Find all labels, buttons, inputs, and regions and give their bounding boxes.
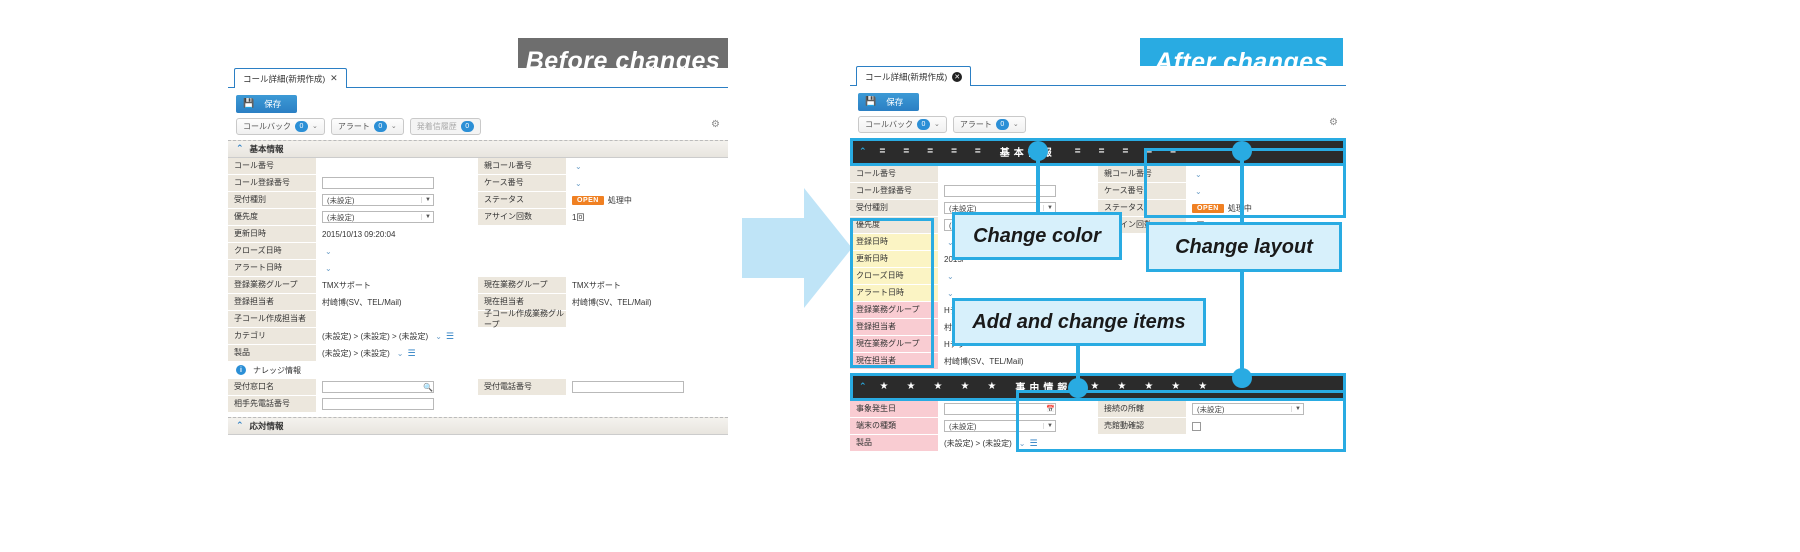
form-field xyxy=(1098,435,1346,452)
form-field: コール番号 xyxy=(850,166,1098,183)
picker-value: (未設定) > (未設定) xyxy=(322,348,390,359)
tabstrip-after: コール詳細(新規作成) ✕ xyxy=(850,66,1346,86)
form-field: 受付電話番号 xyxy=(478,379,728,396)
header-decoration: = xyxy=(1161,146,1185,157)
form-field: ケース番号⌄ xyxy=(1098,183,1346,200)
section-header-response-before[interactable]: ⌃ 応対情報 xyxy=(228,417,728,435)
chipbar-after: コールバック 0 ⌄ アラート 0 ⌄ ⚙ xyxy=(850,114,1346,138)
field-label: 登録担当者 xyxy=(850,319,938,336)
picker-value: (未設定) > (未設定) xyxy=(944,438,1012,449)
form-field xyxy=(478,328,728,345)
field-value: 村崎博(SV、TEL/Mail) xyxy=(566,294,728,311)
form-row: 登録担当者村崎博(SV、TEL/Mail)現在担当者村崎博(SV、TEL/Mai… xyxy=(228,294,728,311)
field-label: 登録業務グループ xyxy=(228,277,316,294)
header-decoration: ★ xyxy=(1135,381,1162,392)
section-header-reason-after[interactable]: ⌃ ★★★★★事由情報★★★★★ xyxy=(853,376,1343,398)
field-value: TMXサポート xyxy=(566,277,728,294)
value-text: TMXサポート xyxy=(572,280,621,291)
field-value: ⌄ xyxy=(938,268,1098,285)
form-row: コール番号親コール番号⌄ xyxy=(228,158,728,175)
field-label: 親コール番号 xyxy=(1098,166,1186,183)
leader-dot-change-layout-bottom xyxy=(1232,368,1252,388)
chevron-down-icon[interactable]: ▼ xyxy=(1291,406,1301,412)
field-label: ケース番号 xyxy=(478,175,566,192)
form-row: 端末の種類(未設定)▼売館動確認 xyxy=(850,418,1346,435)
form-field: コール登録番号 xyxy=(850,183,1098,200)
form-row: 製品(未設定) > (未設定)⌄☰ xyxy=(850,435,1346,452)
search-icon[interactable]: 🔍 xyxy=(423,383,433,392)
field-label: 登録日時 xyxy=(850,234,938,251)
field-value: ⌄ xyxy=(316,260,478,277)
save-label: 保存 xyxy=(886,96,903,108)
form-field: 登録業務グループTMXサポート xyxy=(228,277,478,294)
form-field: クローズ日時⌄ xyxy=(228,243,478,260)
header-decoration: ★ xyxy=(871,381,898,392)
header-decoration: = xyxy=(1113,146,1137,157)
chevron-up-icon[interactable]: ⌃ xyxy=(236,143,244,154)
chevron-down-icon[interactable]: ⌄ xyxy=(572,162,582,171)
chip-alert[interactable]: アラート 0 ⌄ xyxy=(331,118,404,135)
field-value: ⌄ xyxy=(566,175,728,192)
field-value: 1回 xyxy=(566,209,728,226)
form-row: 受付種別(未設定)▼ステータスOPEN処理中 xyxy=(228,192,728,209)
field-label: 端末の種類 xyxy=(850,418,938,435)
chip-label: 発着信履歴 xyxy=(417,121,457,132)
text-input[interactable] xyxy=(322,177,434,189)
section-title: 基本情報 xyxy=(250,143,284,155)
section-header-basic-after[interactable]: ⌃ =====基本情報===== xyxy=(853,141,1343,163)
form-field xyxy=(478,260,728,277)
save-button[interactable]: 💾 保存 xyxy=(236,95,297,113)
field-value: 🔍 xyxy=(316,379,478,396)
field-label: 事象発生日 xyxy=(850,401,938,418)
header-decoration: = xyxy=(1090,146,1114,157)
chip-label: アラート xyxy=(960,119,992,130)
form-field: 端末の種類(未設定)▼ xyxy=(850,418,1098,435)
field-label: 子コール作成担当者 xyxy=(228,311,316,328)
form-row: コール登録番号ケース番号⌄ xyxy=(850,183,1346,200)
form-field: 登録担当者村崎博(SV、TEL/Mail) xyxy=(228,294,478,311)
header-decoration: = xyxy=(966,146,990,157)
field-label: 子コール作成業務グループ xyxy=(478,311,566,328)
chevron-down-icon[interactable]: ⌄ xyxy=(1016,439,1026,448)
field-value: (未設定) > (未設定) > (未設定)⌄☰ xyxy=(316,328,478,345)
text-input[interactable]: 🔍 xyxy=(322,381,434,393)
form-row: 事象発生日📅接続の所轄(未設定)▼ xyxy=(850,401,1346,418)
field-value: ⌄ xyxy=(316,243,478,260)
form-field xyxy=(478,243,728,260)
field-value: (未設定)▼ xyxy=(316,192,478,209)
field-label: 受付窓口名 xyxy=(228,379,316,396)
field-label: 受付種別 xyxy=(228,192,316,209)
form-field xyxy=(478,396,728,413)
dropdown-select[interactable]: (未設定)▼ xyxy=(322,211,434,223)
chevron-down-icon[interactable]: ⌄ xyxy=(944,289,954,298)
field-value xyxy=(316,158,478,175)
header-decoration: ★ xyxy=(1108,381,1135,392)
chip-callback[interactable]: コールバック 0 ⌄ xyxy=(236,118,325,135)
form-field: 事象発生日📅 xyxy=(850,401,1098,418)
field-label: 現在業務グループ xyxy=(850,336,938,353)
field-label: 相手先電話番号 xyxy=(228,396,316,413)
leader-dot-add-items xyxy=(1068,378,1088,398)
callout-label: Add and change items xyxy=(972,311,1185,334)
field-value: 2015/10/13 09:20:04 xyxy=(316,226,478,243)
chevron-down-icon[interactable]: ▼ xyxy=(421,197,431,203)
tab-call-detail-before[interactable]: コール詳細(新規作成) ✕ xyxy=(234,68,347,88)
form-row: 受付窓口名🔍受付電話番号 xyxy=(228,379,728,396)
field-value xyxy=(316,396,478,413)
calendar-icon[interactable]: 📅 xyxy=(1046,405,1055,413)
dropdown-select[interactable]: (未設定)▼ xyxy=(1192,403,1304,415)
field-label: 登録業務グループ xyxy=(850,302,938,319)
field-value xyxy=(566,379,728,396)
save-button[interactable]: 💾 保存 xyxy=(858,93,919,111)
leader-dot-change-layout-top xyxy=(1232,141,1252,161)
text-input[interactable] xyxy=(572,381,684,393)
field-label: アラート日時 xyxy=(850,285,938,302)
before-panel: コール詳細(新規作成) ✕ 💾 保存 コールバック 0 ⌄ アラート 0 ⌄ 発… xyxy=(228,68,728,450)
field-value xyxy=(1186,418,1346,435)
form-field: 現在担当者村崎博(SV、TEL/Mail) xyxy=(850,353,1098,370)
chevron-down-icon[interactable]: ⌄ xyxy=(1192,187,1202,196)
header-decoration: ★ xyxy=(898,381,925,392)
chevron-down-icon[interactable]: ⌄ xyxy=(944,272,954,281)
form-field: コール登録番号 xyxy=(228,175,478,192)
save-disk-icon: 💾 xyxy=(865,96,876,107)
form-field xyxy=(478,226,728,243)
value-text: 村崎博(SV、TEL/Mail) xyxy=(322,297,402,308)
gear-icon[interactable]: ⚙ xyxy=(711,119,720,130)
leader-dot-change-color xyxy=(1028,141,1048,161)
form-field: 接続の所轄(未設定)▼ xyxy=(1098,401,1346,418)
form-row: カテゴリ(未設定) > (未設定) > (未設定)⌄☰ xyxy=(228,328,728,345)
tab-call-detail-after[interactable]: コール詳細(新規作成) ✕ xyxy=(856,66,971,86)
chevron-down-icon[interactable]: ⌄ xyxy=(432,332,442,341)
header-decoration: = xyxy=(918,146,942,157)
form-field: アラート日時⌄ xyxy=(228,260,478,277)
header-decoration: ★ xyxy=(951,381,978,392)
form-field: 製品(未設定) > (未設定)⌄☰ xyxy=(228,345,478,362)
chip-call-history: 発着信履歴 0 xyxy=(410,118,481,135)
form-field: 受付種別(未設定)▼ xyxy=(228,192,478,209)
form-field: カテゴリ(未設定) > (未設定) > (未設定)⌄☰ xyxy=(228,328,478,345)
knowledge-label: ナレッジ情報 xyxy=(253,365,301,376)
callout-label: Change layout xyxy=(1175,236,1313,259)
field-label: 更新日時 xyxy=(850,251,938,268)
tab-label: コール詳細(新規作成) xyxy=(865,71,947,83)
chevron-down-icon[interactable]: ▼ xyxy=(1043,423,1053,429)
comparison-figure: Before changes After changes コール詳細(新規作成)… xyxy=(0,0,1800,552)
chipbar-before: コールバック 0 ⌄ アラート 0 ⌄ 発着信履歴 0 ⚙ xyxy=(228,116,728,140)
callout-change-layout: Change layout xyxy=(1146,222,1342,272)
form-row: 子コール作成担当者子コール作成業務グループ xyxy=(228,311,728,328)
dropdown-select[interactable]: (未設定)▼ xyxy=(944,420,1056,432)
dropdown-select[interactable]: (未設定)▼ xyxy=(322,194,434,206)
field-value: ⌄ xyxy=(1186,166,1346,183)
chevron-down-icon[interactable]: ⌄ xyxy=(572,179,582,188)
field-label: 受付種別 xyxy=(850,200,938,217)
field-label: アサイン回数 xyxy=(478,209,566,226)
section-header-reason-highlight: ⌃ ★★★★★事由情報★★★★★ xyxy=(850,373,1346,401)
field-value: TMXサポート xyxy=(316,277,478,294)
field-label: 優先度 xyxy=(228,209,316,226)
select-value: (未設定) xyxy=(327,195,355,206)
field-value: (未設定) > (未設定)⌄☰ xyxy=(316,345,478,362)
list-picker-icon[interactable]: ☰ xyxy=(407,348,414,359)
save-disk-icon: 💾 xyxy=(243,98,254,109)
field-value: 村崎博(SV、TEL/Mail) xyxy=(316,294,478,311)
status-badge: OPEN xyxy=(572,196,604,205)
form-field xyxy=(1098,353,1346,370)
form-row: 更新日時2015/10/13 09:20:04 xyxy=(228,226,728,243)
chip-count-badge: 0 xyxy=(295,121,308,132)
chip-count-badge: 0 xyxy=(461,121,474,132)
field-value xyxy=(938,166,1098,183)
form-field: アサイン回数1回 xyxy=(478,209,728,226)
chevron-down-icon[interactable]: ⌄ xyxy=(322,247,332,256)
form-field: 子コール作成担当者 xyxy=(228,311,478,328)
value-text: TMXサポート xyxy=(322,280,371,291)
field-value: (未設定)▼ xyxy=(1186,401,1346,418)
field-label: 製品 xyxy=(228,345,316,362)
header-decoration: ★ xyxy=(1162,381,1189,392)
chevron-down-icon[interactable]: ⌄ xyxy=(391,122,397,130)
list-picker-icon[interactable]: ☰ xyxy=(446,331,453,342)
value-text: 1回 xyxy=(572,212,584,223)
chip-label: アラート xyxy=(338,121,370,132)
form-row: 優先度(未設定)▼アサイン回数1回 xyxy=(228,209,728,226)
field-label: クローズ日時 xyxy=(850,268,938,285)
form-row: 登録業務グループTMXサポート現在業務グループTMXサポート xyxy=(228,277,728,294)
form-row: 現在担当者村崎博(SV、TEL/Mail) xyxy=(850,353,1346,370)
close-icon[interactable]: ✕ xyxy=(952,72,962,82)
chevron-up-icon[interactable]: ⌃ xyxy=(859,381,867,392)
chip-count-badge: 0 xyxy=(917,119,930,130)
field-value xyxy=(566,311,728,328)
header-decoration: = xyxy=(871,146,895,157)
form-field: 売館動確認 xyxy=(1098,418,1346,435)
field-label: 受付電話番号 xyxy=(478,379,566,396)
chip-label: コールバック xyxy=(865,119,913,130)
field-value: OPEN処理中 xyxy=(1186,200,1346,217)
field-value: OPEN処理中 xyxy=(566,192,728,209)
field-value: (未設定) > (未設定)⌄☰ xyxy=(938,435,1098,452)
form-row: アラート日時⌄ xyxy=(228,260,728,277)
chevron-down-icon[interactable]: ⌄ xyxy=(394,349,404,358)
tab-label: コール詳細(新規作成) xyxy=(243,73,325,85)
field-label: 更新日時 xyxy=(228,226,316,243)
field-label: 親コール番号 xyxy=(478,158,566,175)
form-field: 受付窓口名🔍 xyxy=(228,379,478,396)
text-input[interactable]: 📅 xyxy=(944,403,1056,415)
toolbar-after: 💾 保存 xyxy=(850,86,1346,114)
list-picker-icon[interactable]: ☰ xyxy=(1029,438,1036,449)
form-field: 更新日時2015/10/13 09:20:04 xyxy=(228,226,478,243)
value-text: 2015/10/13 09:20:04 xyxy=(322,230,395,239)
callout-label: Change color xyxy=(973,225,1101,248)
select-value: (未設定) xyxy=(1197,404,1225,415)
field-label: 現在業務グループ xyxy=(478,277,566,294)
form-field: ケース番号⌄ xyxy=(478,175,728,192)
chip-count-badge: 0 xyxy=(374,121,387,132)
field-value: (未設定)▼ xyxy=(938,418,1098,435)
form-field: クローズ日時⌄ xyxy=(850,268,1098,285)
field-value: 📅 xyxy=(938,401,1098,418)
section-title: 応対情報 xyxy=(250,420,284,432)
value-text: 村崎博(SV、TEL/Mail) xyxy=(944,356,1024,367)
form-field: ステータスOPEN処理中 xyxy=(478,192,728,209)
chevron-down-icon[interactable]: ⌄ xyxy=(1192,170,1202,179)
field-value: ⌄ xyxy=(1186,183,1346,200)
field-label: 登録担当者 xyxy=(228,294,316,311)
field-value: (未設定)▼ xyxy=(316,209,478,226)
header-decoration: = xyxy=(942,146,966,157)
chevron-down-icon[interactable]: ⌄ xyxy=(934,120,940,128)
close-icon[interactable]: ✕ xyxy=(330,73,338,84)
field-label: 製品 xyxy=(850,435,938,452)
chip-alert[interactable]: アラート 0 ⌄ xyxy=(953,116,1026,133)
form-row: コール番号親コール番号⌄ xyxy=(850,166,1346,183)
form-field: 優先度(未設定)▼ xyxy=(228,209,478,226)
knowledge-info-row[interactable]: i ナレッジ情報 xyxy=(228,362,728,379)
select-value: (未設定) xyxy=(327,212,355,223)
field-value: 村崎博(SV、TEL/Mail) xyxy=(938,353,1098,370)
field-label: 優先度 xyxy=(850,217,938,234)
field-label: ケース番号 xyxy=(1098,183,1186,200)
section-header-basic-highlight: ⌃ =====基本情報===== xyxy=(850,138,1346,166)
save-label: 保存 xyxy=(264,98,281,110)
form-field: コール番号 xyxy=(228,158,478,175)
form-field: 製品(未設定) > (未設定)⌄☰ xyxy=(850,435,1098,452)
form-field: ステータスOPEN処理中 xyxy=(1098,200,1346,217)
status-text: 処理中 xyxy=(608,195,632,206)
value-text: 村崎博(SV、TEL/Mail) xyxy=(572,297,652,308)
form-field: 親コール番号⌄ xyxy=(1098,166,1346,183)
chevron-down-icon[interactable]: ⌄ xyxy=(1013,120,1019,128)
text-input[interactable] xyxy=(322,398,434,410)
chevron-down-icon[interactable]: ▼ xyxy=(1043,205,1053,211)
form-field: 現在業務グループTMXサポート xyxy=(478,277,728,294)
header-decoration: ★ xyxy=(978,381,1005,392)
field-label: クローズ日時 xyxy=(228,243,316,260)
header-decoration: = xyxy=(894,146,918,157)
chevron-up-icon[interactable]: ⌃ xyxy=(236,420,244,431)
chevron-down-icon[interactable]: ▼ xyxy=(421,214,431,220)
form-row: 製品(未設定) > (未設定)⌄☰ xyxy=(228,345,728,362)
field-label: 売館動確認 xyxy=(1098,418,1186,435)
tabstrip-before: コール詳細(新規作成) ✕ xyxy=(228,68,728,88)
form-field xyxy=(478,345,728,362)
before-form-grid: コール番号親コール番号⌄コール登録番号ケース番号⌄受付種別(未設定)▼ステータス… xyxy=(228,158,728,362)
select-value: (未設定) xyxy=(949,421,977,432)
field-label: コール登録番号 xyxy=(850,183,938,200)
field-value: ⌄ xyxy=(566,158,728,175)
field-label: 現在担当者 xyxy=(850,353,938,370)
field-label: アラート日時 xyxy=(228,260,316,277)
header-decoration: ★ xyxy=(1189,381,1216,392)
field-label: コール登録番号 xyxy=(228,175,316,192)
form-field: 相手先電話番号 xyxy=(228,396,478,413)
toolbar-before: 💾 保存 xyxy=(228,88,728,116)
field-label: カテゴリ xyxy=(228,328,316,345)
field-label: ステータス xyxy=(478,192,566,209)
before-contact-grid: 受付窓口名🔍受付電話番号相手先電話番号 xyxy=(228,379,728,413)
leader-line-change-layout-bottom xyxy=(1240,270,1244,378)
header-decoration: = xyxy=(1137,146,1161,157)
chevron-up-icon[interactable]: ⌃ xyxy=(859,146,867,157)
header-decoration: = xyxy=(1066,146,1090,157)
gear-icon[interactable]: ⚙ xyxy=(1329,117,1338,128)
checkbox[interactable] xyxy=(1192,422,1201,431)
callout-add-and-change-items: Add and change items xyxy=(952,298,1206,346)
field-value xyxy=(316,175,478,192)
field-label: コール番号 xyxy=(228,158,316,175)
field-value xyxy=(316,311,478,328)
field-label: コール番号 xyxy=(850,166,938,183)
field-label: 接続の所轄 xyxy=(1098,401,1186,418)
section-header-basic-before[interactable]: ⌃ 基本情報 xyxy=(228,140,728,158)
form-field: 親コール番号⌄ xyxy=(478,158,728,175)
chevron-down-icon[interactable]: ⌄ xyxy=(322,264,332,273)
form-row: クローズ日時⌄ xyxy=(228,243,728,260)
form-row: コール登録番号ケース番号⌄ xyxy=(228,175,728,192)
callout-change-color: Change color xyxy=(952,212,1122,260)
chevron-down-icon[interactable]: ⌄ xyxy=(312,122,318,130)
transition-arrow-icon xyxy=(742,188,852,308)
header-decoration: ★ xyxy=(924,381,951,392)
chip-callback[interactable]: コールバック 0 ⌄ xyxy=(858,116,947,133)
chip-count-badge: 0 xyxy=(996,119,1009,130)
picker-value: (未設定) > (未設定) > (未設定) xyxy=(322,331,428,342)
after-reason-grid: 事象発生日📅接続の所轄(未設定)▼端末の種類(未設定)▼売館動確認製品(未設定)… xyxy=(850,401,1346,452)
status-badge: OPEN xyxy=(1192,204,1224,213)
form-field: 子コール作成業務グループ xyxy=(478,311,728,328)
chip-label: コールバック xyxy=(243,121,291,132)
form-row: 相手先電話番号 xyxy=(228,396,728,413)
field-value xyxy=(938,183,1098,200)
info-icon: i xyxy=(236,365,246,375)
